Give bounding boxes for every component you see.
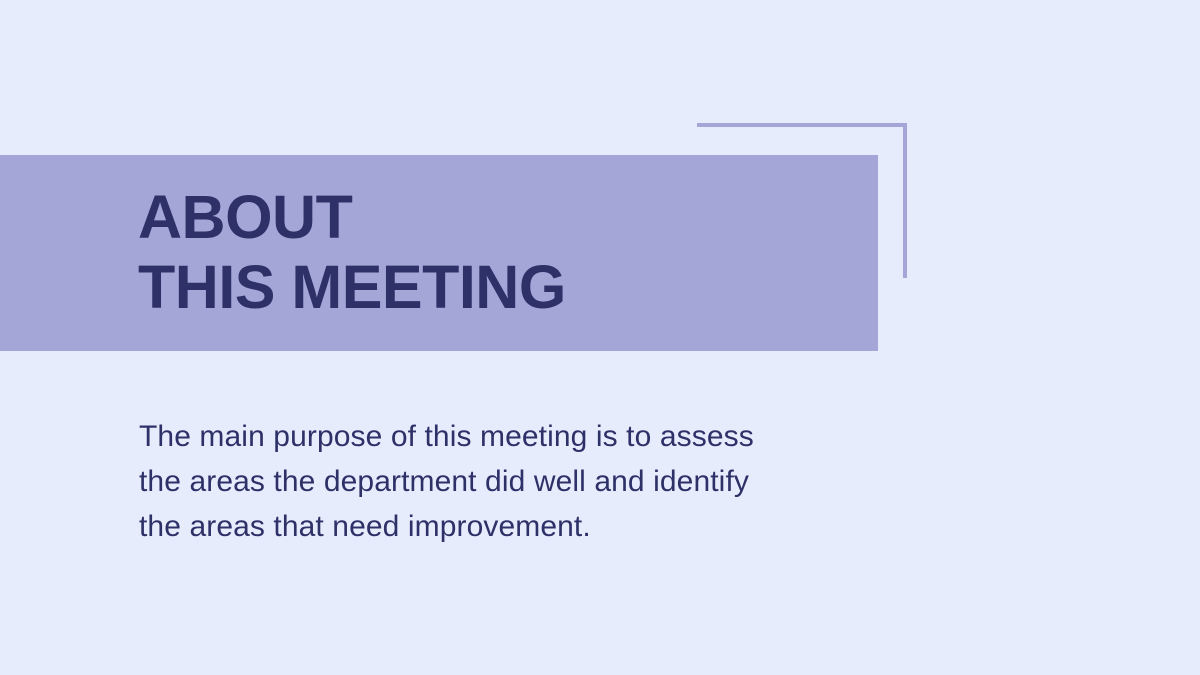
slide-canvas: ABOUT THIS MEETING The main purpose of t… — [0, 0, 1200, 675]
page-title: ABOUT THIS MEETING — [138, 182, 566, 322]
corner-bracket-horizontal-line — [697, 123, 907, 127]
body-paragraph: The main purpose of this meeting is to a… — [139, 414, 899, 549]
corner-bracket-vertical-line — [903, 123, 907, 278]
